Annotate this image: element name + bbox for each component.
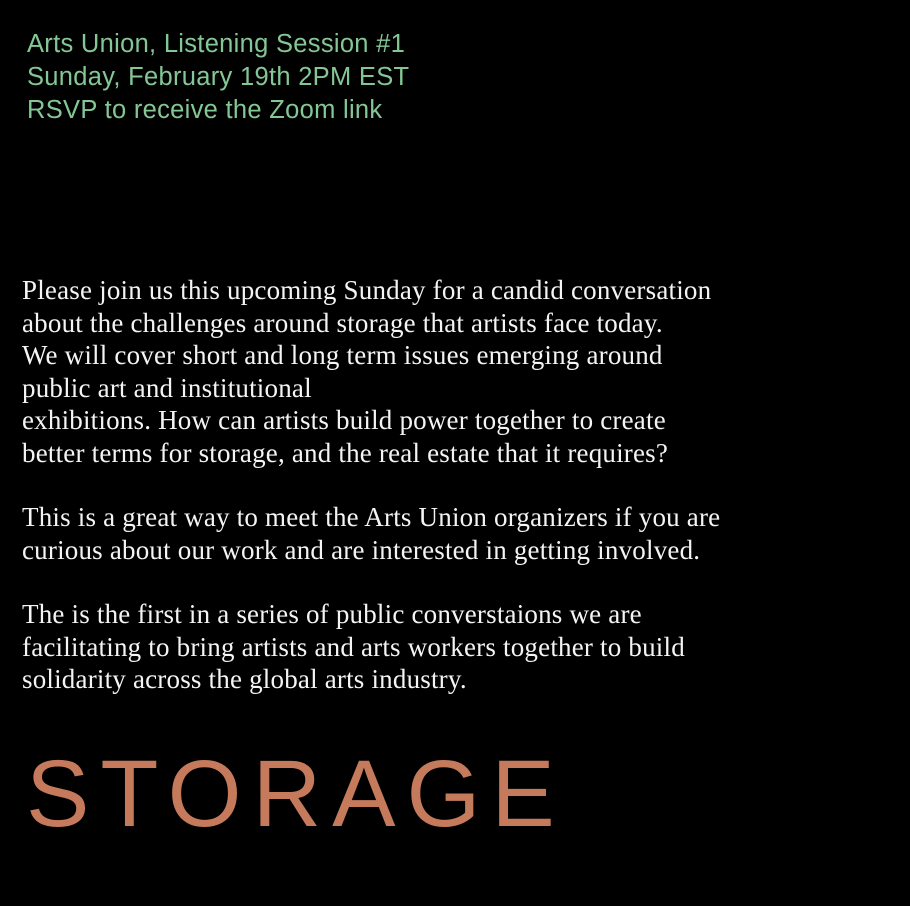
paragraph-line: curious about our work and are intereste… bbox=[22, 534, 902, 567]
storage-wordmark: STORAGE bbox=[26, 744, 566, 844]
event-rsvp-line: RSVP to receive the Zoom link bbox=[27, 94, 887, 127]
paragraph-line: public art and institutional bbox=[22, 372, 902, 405]
paragraph-intro: Please join us this upcoming Sunday for … bbox=[22, 274, 902, 469]
event-title-line: Arts Union, Listening Session #1 bbox=[27, 28, 887, 61]
event-header: Arts Union, Listening Session #1 Sunday,… bbox=[27, 28, 887, 127]
paragraph-line: facilitating to bring artists and arts w… bbox=[22, 631, 902, 664]
paragraph-line: The is the first in a series of public c… bbox=[22, 598, 902, 631]
body-copy: Please join us this upcoming Sunday for … bbox=[22, 274, 902, 696]
event-datetime-line: Sunday, February 19th 2PM EST bbox=[27, 61, 887, 94]
paragraph-meet-organizers: This is a great way to meet the Arts Uni… bbox=[22, 501, 902, 566]
paragraph-series: The is the first in a series of public c… bbox=[22, 598, 902, 696]
paragraph-line: We will cover short and long term issues… bbox=[22, 339, 902, 372]
paragraph-line: Please join us this upcoming Sunday for … bbox=[22, 274, 902, 307]
paragraph-line: better terms for storage, and the real e… bbox=[22, 437, 902, 470]
paragraph-line: about the challenges around storage that… bbox=[22, 307, 902, 340]
paragraph-line: solidarity across the global arts indust… bbox=[22, 663, 902, 696]
paragraph-line: exhibitions. How can artists build power… bbox=[22, 404, 902, 437]
paragraph-line: This is a great way to meet the Arts Uni… bbox=[22, 501, 902, 534]
poster-canvas: Arts Union, Listening Session #1 Sunday,… bbox=[0, 0, 910, 906]
